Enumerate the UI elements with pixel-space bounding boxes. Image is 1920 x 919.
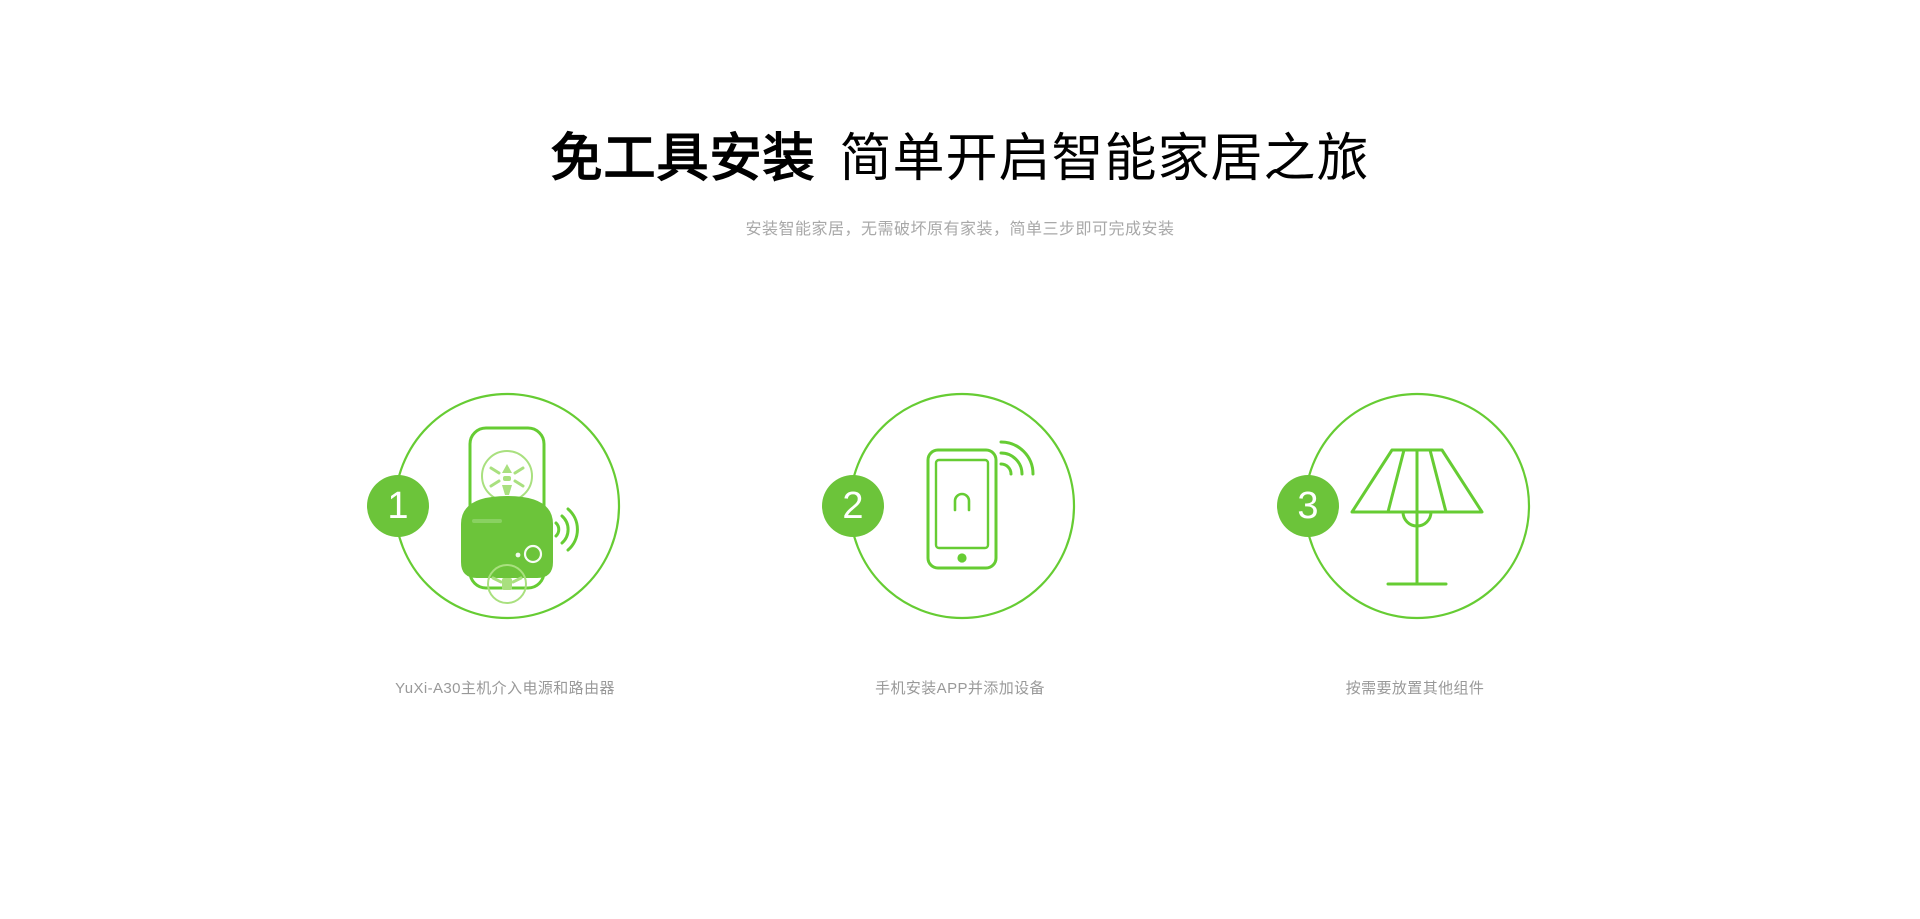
step-3-caption: 按需要放置其他组件 [1346,678,1485,700]
lamp-drawing [1352,450,1482,584]
smart-plug-icon: 1 [360,388,650,628]
step-1-illustration: 1 [360,388,650,628]
outlet-socket-top [482,451,532,501]
phone-wifi-signal-icon [1001,442,1033,474]
step-item-2: 2 手机安装APP并添加设备 [733,388,1188,700]
step-3-number: 3 [1297,485,1318,527]
step-2-number: 2 [842,485,863,527]
page-title-emphasis: 免工具安装 [550,130,815,188]
lamp-shade-fold-left [1388,450,1404,512]
phone-body [928,450,996,568]
step-2-badge: 2 [822,475,884,537]
page-title: 免工具安装简单开启智能家居之旅 [0,128,1920,190]
step-item-3: 3 按需要放置其他组件 [1188,388,1643,700]
table-lamp-icon: 3 [1270,388,1560,628]
heading-block: 免工具安装简单开启智能家居之旅 安装智能家居，无需破坏原有家装，简单三步即可完成… [0,128,1920,242]
step-3-illustration: 3 [1270,388,1560,628]
hub-led-indicator [516,553,521,558]
app-home-glyph [955,494,969,510]
step-item-1: 1 YuXi-A30主机介入电源和路由器 [278,388,733,700]
hub-brand-mark [472,519,502,523]
installation-steps-page: 免工具安装简单开启智能家居之旅 安装智能家居，无需破坏原有家装，简单三步即可完成… [0,0,1920,919]
step-3-badge: 3 [1277,475,1339,537]
phone-home-button[interactable] [957,553,966,562]
step-2-caption: 手机安装APP并添加设备 [875,678,1045,700]
step-1-number: 1 [387,485,408,527]
lamp-shade-fold-right [1430,450,1446,512]
page-subtitle: 安装智能家居，无需破坏原有家装，简单三步即可完成安装 [0,218,1920,242]
step-1-badge: 1 [367,475,429,537]
steps-row: 1 YuXi-A30主机介入电源和路由器 [0,388,1920,700]
step-1-caption: YuXi-A30主机介入电源和路由器 [395,678,615,700]
plug-wifi-signal-icon [556,509,577,550]
page-title-secondary: 简单开启智能家居之旅 [840,130,1370,188]
step-2-illustration: 2 [815,388,1105,628]
smartphone-wifi-icon: 2 [815,388,1105,628]
phone-screen [936,460,988,548]
